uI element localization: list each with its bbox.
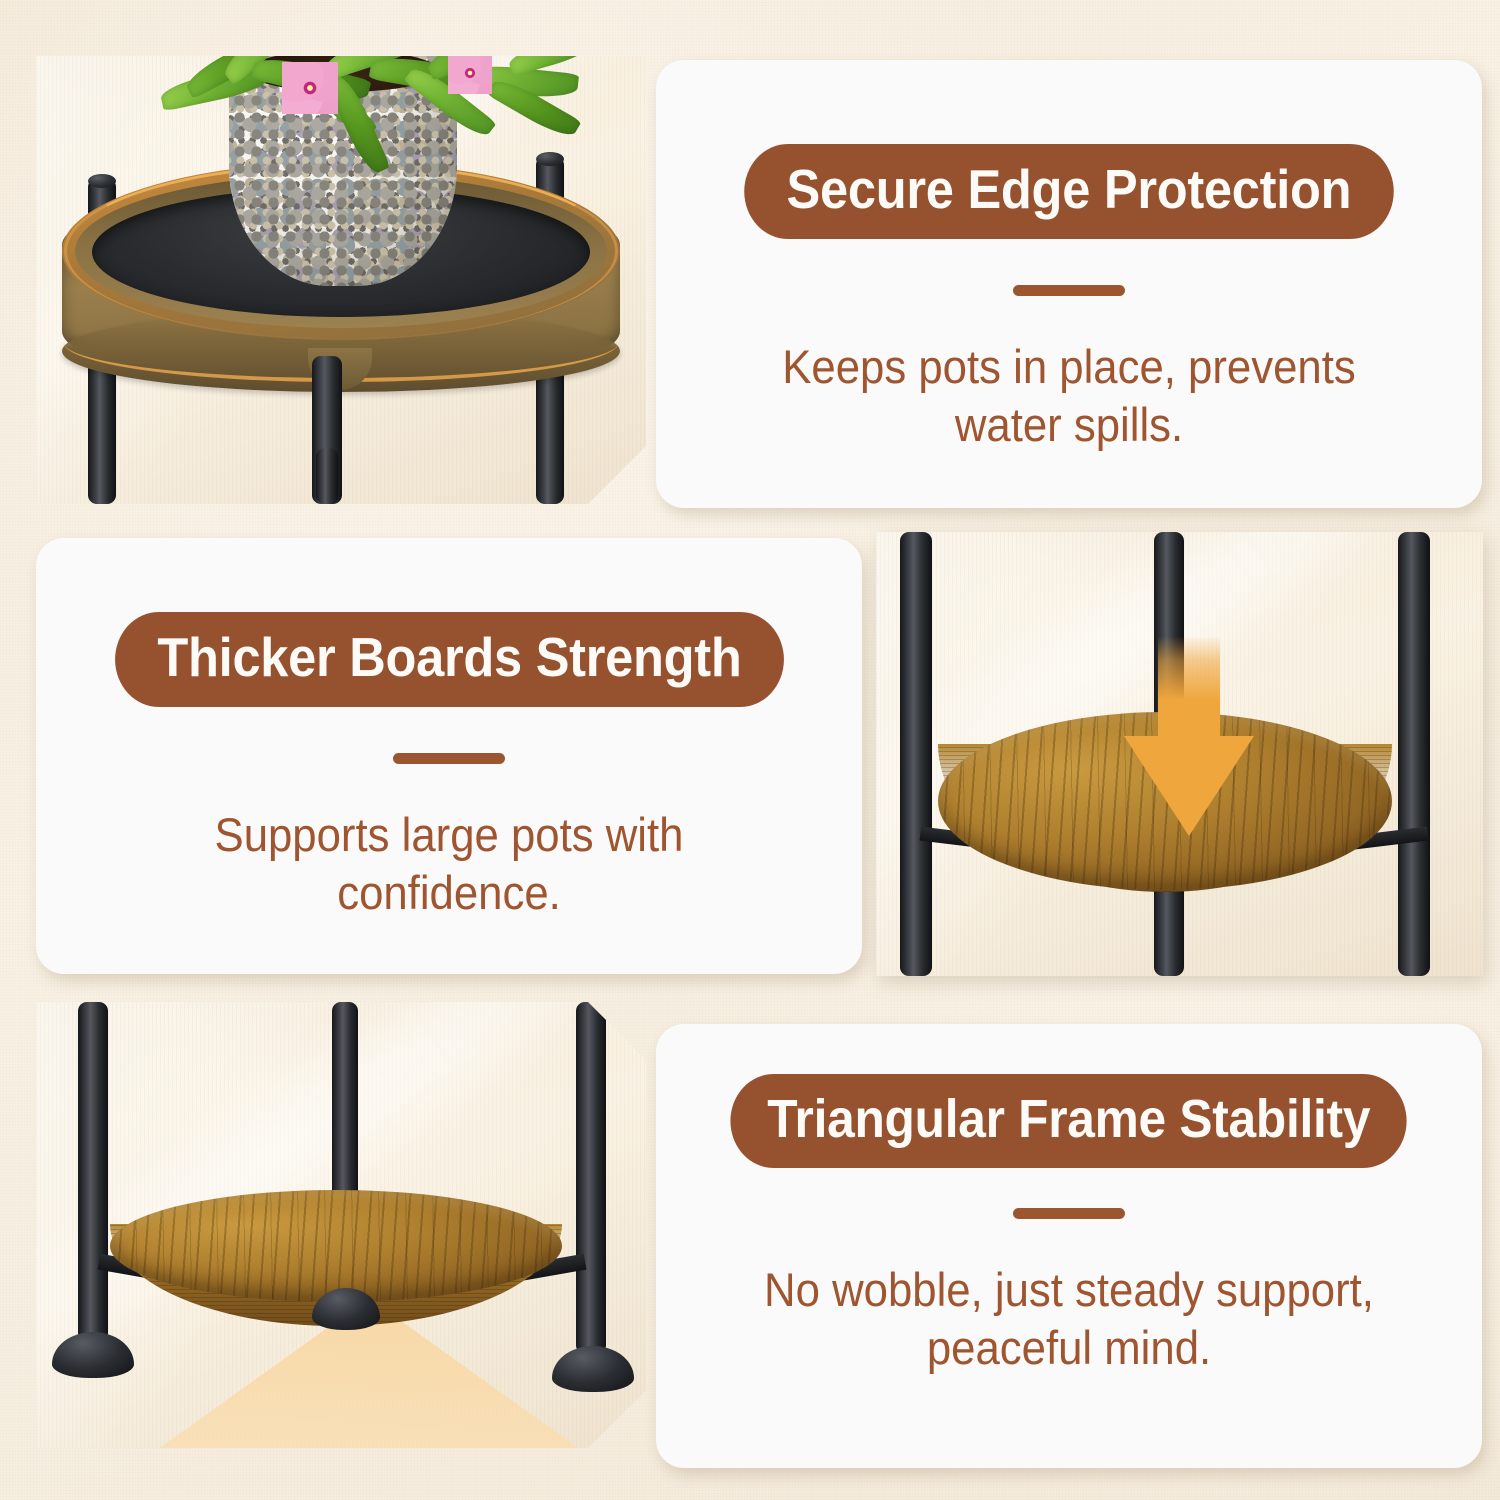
board-thickness-photo [876, 532, 1483, 976]
tray-edge-photo [36, 56, 646, 504]
feature-card-thicker-boards-strength: Thicker Boards Strength Supports large p… [36, 538, 862, 974]
stand-leg-right [1398, 532, 1430, 976]
arrow-head [1124, 736, 1254, 836]
stand-leg-center-lower [316, 448, 338, 504]
title-divider [393, 753, 505, 764]
feature-title-badge: Triangular Frame Stability [731, 1074, 1408, 1168]
stand-leg-right [576, 1002, 606, 1354]
feature-description: Supports large pots with confidence. [128, 806, 770, 923]
feature-card-triangular-frame-stability: Triangular Frame Stability No wobble, ju… [656, 1024, 1482, 1468]
plant-foliage [156, 56, 586, 198]
arrow-shaft [1158, 636, 1220, 746]
feature-description: Keeps pots in place, prevents water spil… [748, 338, 1390, 455]
pink-flower [282, 62, 338, 114]
feature-card-secure-edge-protection: Secure Edge Protection Keeps pots in pla… [656, 60, 1482, 508]
feature-title-badge: Thicker Boards Strength [115, 612, 784, 707]
stand-leg-left [78, 1002, 108, 1342]
title-divider [1013, 285, 1125, 296]
triangular-frame-photo [36, 1002, 646, 1448]
feature-description: No wobble, just steady support, peaceful… [725, 1261, 1413, 1378]
feature-title-badge: Secure Edge Protection [744, 144, 1393, 239]
wood-shelf-surface [110, 1190, 562, 1302]
downward-pressure-arrow-icon [1124, 636, 1254, 836]
title-divider [1013, 1208, 1125, 1219]
pink-flower [448, 56, 492, 94]
stand-leg-left [900, 532, 932, 976]
stand-leg-center [332, 1002, 358, 1210]
